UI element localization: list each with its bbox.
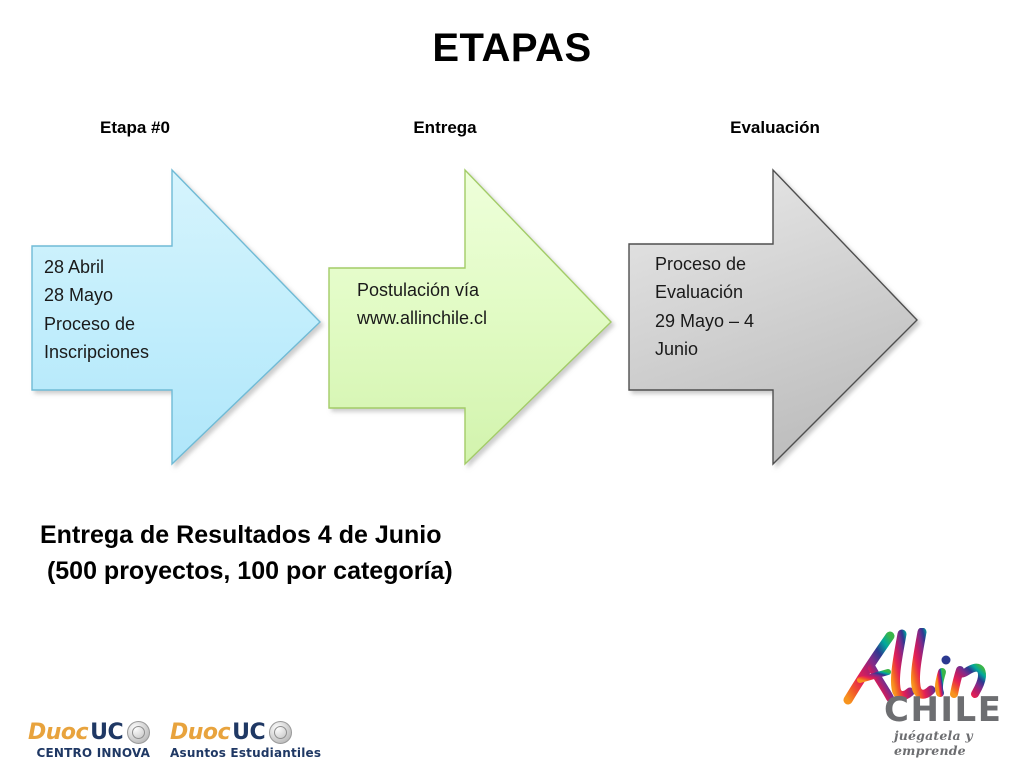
duoc-wordmark-2: DuocUC: [170, 720, 321, 745]
duoc-word-2: Duoc: [170, 720, 230, 745]
logo-all-in-chile: CHILE juégatela y emprende: [838, 628, 1014, 756]
stage-arrow-green[interactable]: Postulación vía www.allinchile.cl: [325, 168, 620, 468]
slide-canvas: ETAPAS Etapa #0 Entrega Evaluación 28 Ab…: [0, 0, 1024, 768]
stage-caption-0: Etapa #0: [55, 118, 215, 138]
arrow-shape-gray-icon: [625, 168, 925, 468]
duoc-uc-2: UC: [232, 720, 265, 745]
duoc-seal-icon-1: [127, 721, 150, 744]
all-in-dot-icon: [942, 656, 951, 665]
duoc-subtitle-2: Asuntos Estudiantiles: [170, 746, 321, 760]
arrow-shape-green-icon: [325, 168, 620, 468]
duoc-wordmark-1: DuocUC: [28, 720, 150, 745]
statement-line-1: Entrega de Resultados 4 de Junio: [40, 518, 441, 554]
arrow-shape-blue-icon: [28, 168, 328, 468]
duoc-subtitle-1: CENTRO INNOVA: [28, 746, 150, 760]
stage-caption-1: Entrega: [365, 118, 525, 138]
statement-line-2: (500 proyectos, 100 por categoría): [40, 554, 453, 590]
duoc-seal-icon-2: [269, 721, 292, 744]
duoc-uc-1: UC: [90, 720, 123, 745]
logo-duoc-centro-innova: DuocUC CENTRO INNOVA: [28, 720, 150, 760]
chile-wordmark: CHILE: [884, 690, 1002, 730]
stage-caption-2: Evaluación: [695, 118, 855, 138]
stage-arrow-blue[interactable]: 28 Abril 28 Mayo Proceso de Inscripcione…: [28, 168, 328, 468]
page-title: ETAPAS: [0, 26, 1024, 71]
duoc-word-1: Duoc: [28, 720, 88, 745]
stage-arrow-gray[interactable]: Proceso de Evaluación 29 Mayo – 4 Junio: [625, 168, 925, 468]
chile-tagline: juégatela y emprende: [894, 728, 1014, 758]
logo-duoc-asuntos-estudiantiles: DuocUC Asuntos Estudiantiles: [170, 720, 321, 760]
